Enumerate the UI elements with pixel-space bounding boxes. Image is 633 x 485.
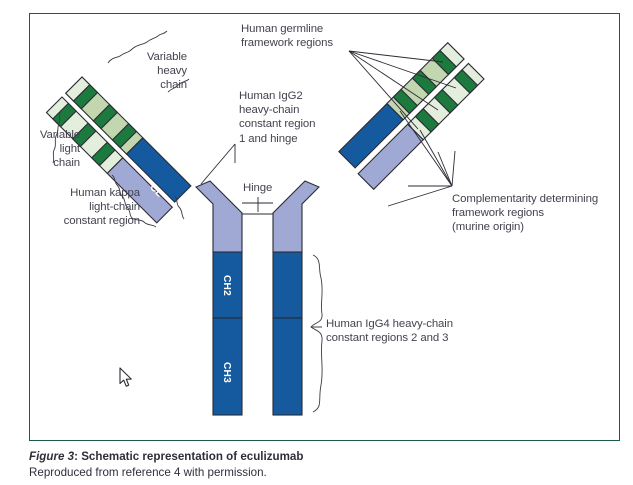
stem-right: [273, 252, 302, 415]
caption-title-text: : Schematic representation of eculizumab: [74, 450, 303, 463]
hinge-connector: [242, 203, 273, 214]
left-fork: [196, 181, 242, 252]
caption-credit-line: Reproduced from reference 4 with permiss…: [29, 465, 609, 481]
label-human-igg2-constant-region: Human IgG2 heavy-chain constant region 1…: [239, 89, 345, 146]
label-variable-heavy-chain: Variable heavy chain: [95, 50, 187, 93]
leader-igg2: [201, 144, 235, 184]
label-human-germline-framework-regions: Human germline framework regions: [241, 22, 359, 50]
leader-cdr-lower: [388, 186, 452, 206]
label-human-kappa-constant-region: Human kappa light-chain constant region: [20, 186, 140, 229]
label-variable-light-chain: Variable light chain: [2, 128, 80, 171]
figure-caption: Figure 3: Schematic representation of ec…: [29, 449, 609, 480]
caption-title-line: Figure 3: Schematic representation of ec…: [29, 449, 609, 465]
label-hinge: Hinge: [243, 181, 285, 195]
figure-root: .ol{stroke:#2b2b33;stroke-width:1.1;} .l…: [0, 0, 633, 485]
segment-label-ch3: CH3: [221, 362, 232, 383]
segment-label-ch2: CH2: [221, 275, 232, 296]
caption-figure-number: Figure 3: [29, 450, 74, 463]
label-human-igg4-constant-regions: Human IgG4 heavy-chain constant regions …: [326, 317, 486, 345]
brace-igg4: [311, 255, 322, 412]
label-cdr-murine-origin: Complementarity determining framework re…: [452, 192, 624, 235]
mouse-cursor: [119, 367, 134, 388]
